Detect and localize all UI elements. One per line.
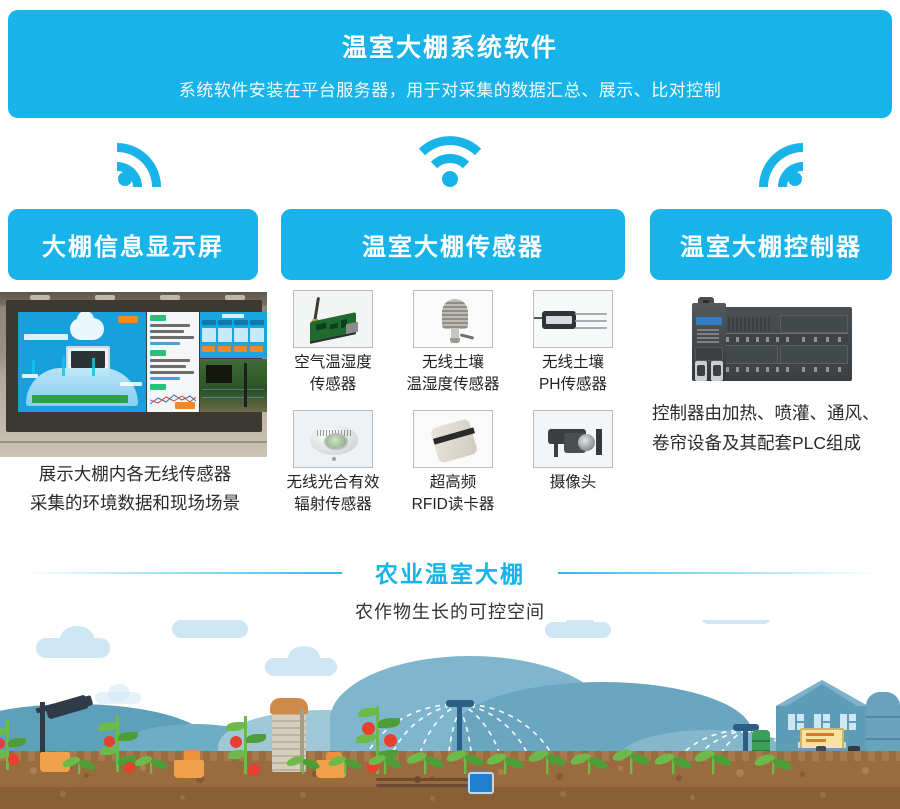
- dashboard-panel-table: [200, 312, 267, 358]
- section-header-controller[interactable]: 温室大棚控制器: [650, 209, 892, 280]
- uhf-rfid-reader-image: [413, 410, 493, 468]
- subsoil-layer: [0, 787, 900, 809]
- rss-signal-icon-left: [112, 128, 176, 192]
- sensor-caption: 摄像头: [550, 472, 597, 494]
- plc-access-door: [695, 347, 723, 361]
- silo-band: [866, 716, 900, 718]
- footer-divider: 农业温室大棚: [0, 555, 900, 589]
- silo-band: [866, 738, 900, 740]
- section-header-display[interactable]: 大棚信息显示屏: [8, 209, 258, 280]
- video-wall-frame: [6, 300, 262, 432]
- sensor-caption: 无线土壤 PH传感器: [539, 352, 607, 396]
- section-header-sensors[interactable]: 温室大棚传感器: [281, 209, 625, 280]
- sensor-cell-camera[interactable]: 摄像头: [513, 410, 633, 516]
- signal-icons-row: [0, 128, 900, 200]
- dashboard-panel-camera-feed: [200, 359, 267, 412]
- display-wall-photo: [0, 292, 267, 457]
- dashboard-panel-overview: [18, 312, 146, 412]
- sensor-cell-air-temp-humidity[interactable]: 空气温湿度 传感器: [273, 290, 393, 396]
- sensor-caption: 无线光合有效 辐射传感器: [286, 472, 379, 516]
- plc-serial-port-1: [695, 361, 707, 381]
- plc-cpu-module: [692, 303, 726, 381]
- sensor-cell-soil-temp-humidity[interactable]: 无线土壤 温湿度传感器: [393, 290, 513, 396]
- wifi-signal-icon-center: [416, 132, 484, 188]
- floor-line: [0, 441, 267, 443]
- plc-body: [706, 307, 852, 381]
- sensor-row-1: 空气温湿度 传感器 无线土壤 温湿度传感器: [273, 290, 633, 396]
- tank-band: [752, 740, 770, 742]
- banner-subtitle: 系统软件安装在平台服务器，用于对采集的数据汇总、展示、比对控制: [179, 76, 722, 101]
- sensor-row-2: 无线光合有效 辐射传感器 超高频 RFID读卡器 摄像头: [273, 410, 633, 516]
- sign-text-line: [806, 733, 834, 736]
- rss-signal-icon-right: [744, 128, 808, 192]
- irrigation-pipe: [376, 784, 468, 787]
- sensor-cell-par-radiation[interactable]: 无线光合有效 辐射传感器: [273, 410, 393, 516]
- plc-controller-photo: [650, 290, 894, 390]
- plc-brand-logo: [696, 317, 722, 325]
- sensor-caption: 空气温湿度 传感器: [294, 352, 372, 396]
- plc-serial-port-2: [711, 361, 723, 381]
- pipe-joint: [414, 776, 421, 783]
- wireless-soil-temp-humidity-sensor-image: [413, 290, 493, 348]
- system-software-banner: 温室大棚系统软件 系统软件安装在平台服务器，用于对采集的数据汇总、展示、比对控制: [8, 10, 892, 118]
- cloud-icon: [108, 684, 130, 702]
- cloud-icon: [288, 646, 320, 670]
- display-description: 展示大棚内各无线传感器 采集的环境数据和现场场景: [0, 460, 270, 518]
- greenhouse-scene-illustration: [0, 620, 900, 809]
- sensor-caption: 无线土壤 温湿度传感器: [406, 352, 499, 396]
- sensor-caption: 超高频 RFID读卡器: [412, 472, 495, 516]
- page-root: 温室大棚系统软件 系统软件安装在平台服务器，用于对采集的数据汇总、展示、比对控制: [0, 0, 900, 809]
- irrigation-pipe: [376, 778, 468, 781]
- cloud-icon: [60, 626, 94, 652]
- footer-title: 农业温室大棚: [0, 555, 900, 589]
- sensor-cell-rfid-reader[interactable]: 超高频 RFID读卡器: [393, 410, 513, 516]
- sensor-grid: 空气温湿度 传感器 无线土壤 温湿度传感器: [273, 290, 633, 516]
- banner-title: 温室大棚系统软件: [342, 28, 558, 64]
- wireless-soil-ph-sensor-image: [533, 290, 613, 348]
- camera-lens-hood: [83, 695, 93, 707]
- controller-description: 控制器由加热、喷灌、通风、卷帘设备及其配套PLC组成: [652, 398, 892, 458]
- wireless-par-radiation-sensor-image: [293, 410, 373, 468]
- air-temp-humidity-sensor-image: [293, 290, 373, 348]
- sensor-cell-soil-ph[interactable]: 无线土壤 PH传感器: [513, 290, 633, 396]
- camera-image: [533, 410, 613, 468]
- irrigation-valve: [468, 772, 494, 794]
- sign-text-line: [806, 739, 826, 742]
- sprinkler-head: [446, 700, 474, 707]
- sprout-row: [0, 746, 900, 774]
- dashboard-panel-data: [147, 312, 199, 412]
- cloud-icon: [700, 620, 772, 624]
